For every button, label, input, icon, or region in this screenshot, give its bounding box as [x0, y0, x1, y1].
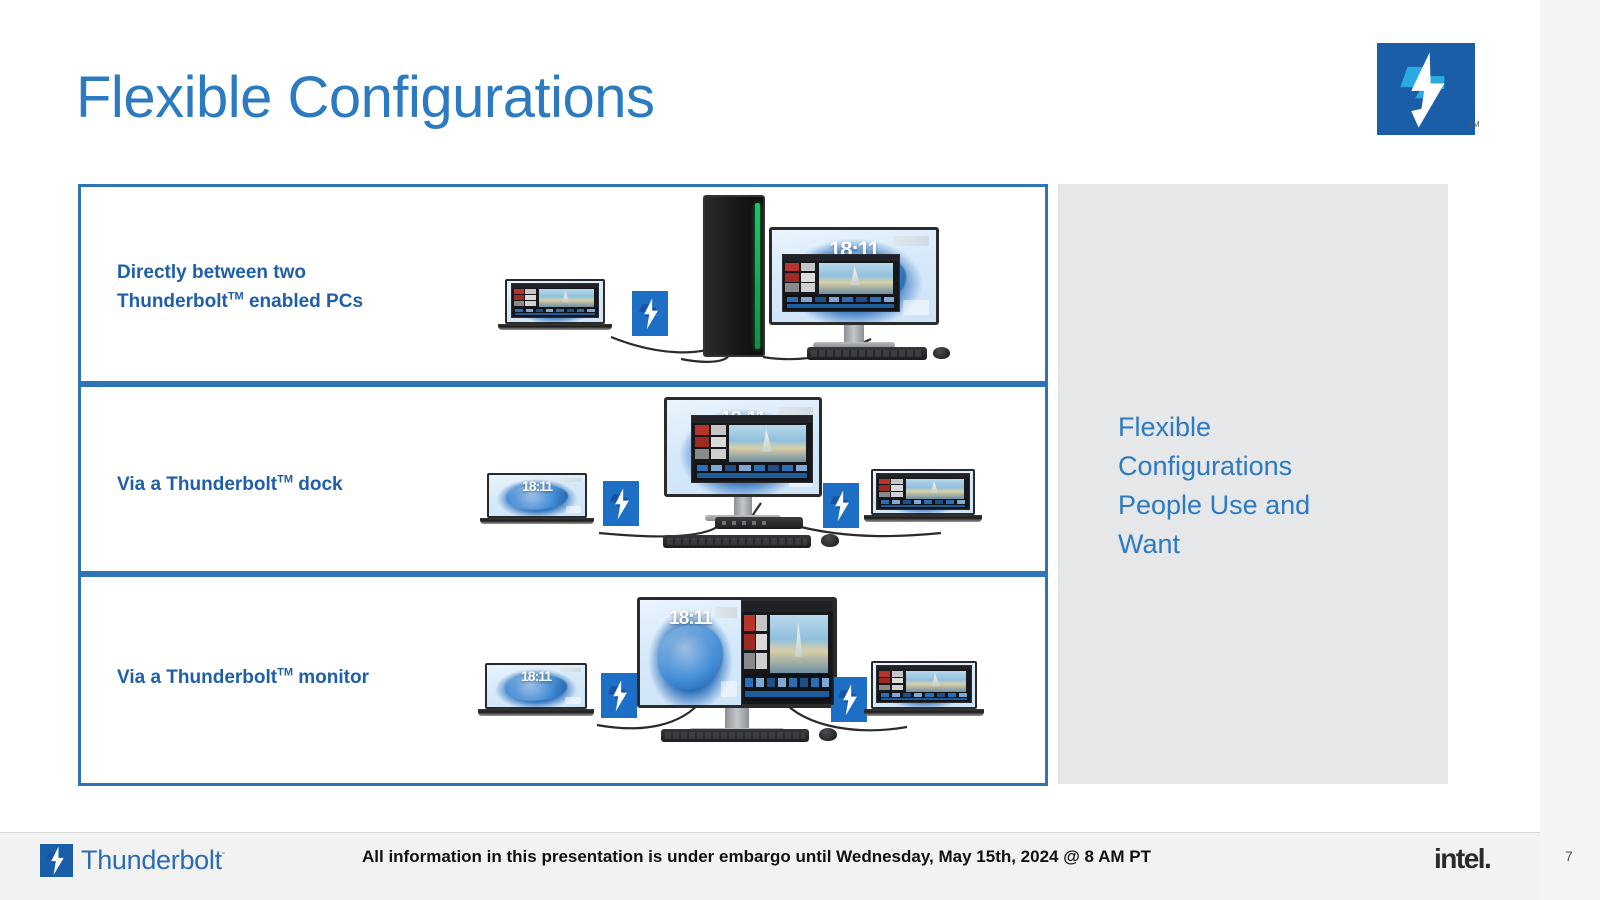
thunderbolt-badge-icon: [831, 677, 867, 722]
app-preview: [539, 289, 594, 307]
app-window: [511, 283, 599, 318]
app-thumbnails: [695, 425, 726, 459]
app-window: [876, 665, 972, 703]
thunderbolt-badge-icon: [601, 673, 637, 718]
mouse-device: [933, 347, 950, 359]
app-timeline: [744, 674, 831, 701]
laptop-base: [480, 518, 594, 525]
laptop-device: [871, 469, 975, 533]
footer-divider: [0, 832, 1540, 833]
page-number: 7: [1565, 848, 1573, 864]
laptop-device: [505, 279, 605, 341]
intel-logo: intel.: [1434, 843, 1490, 875]
timeline-track: [881, 505, 966, 507]
thunderbolt-badge-icon: [823, 483, 859, 528]
embargo-notice: All information in this presentation is …: [362, 845, 1182, 869]
monitor-screen: 18:11: [664, 397, 822, 497]
taskbar-buttons: [721, 681, 737, 698]
app-thumbnails: [744, 615, 768, 668]
callout-text: Flexible Configurations People Use and W…: [1118, 408, 1368, 565]
trademark-symbol: TM: [1468, 120, 1480, 129]
page-title: Flexible Configurations: [76, 68, 654, 129]
thunderbolt-badge-icon: [603, 481, 639, 526]
system-tray-icons: [560, 478, 581, 482]
app-thumbnails: [514, 289, 536, 306]
app-timeline: [514, 308, 597, 317]
app-titlebar: [692, 416, 812, 423]
footer-logo-word: Thunderbolt: [81, 845, 222, 875]
laptop-base: [864, 515, 983, 522]
footer-logo-wordmark: Thunderbolt˜: [81, 845, 225, 876]
laptop-screen: [505, 279, 605, 324]
taskbar-buttons: [566, 506, 581, 513]
monitor-device: 18:11: [769, 227, 939, 352]
app-timeline: [695, 463, 810, 480]
keyboard-device: [661, 729, 809, 742]
callout-panel: Flexible Configurations People Use and W…: [1058, 184, 1448, 784]
laptop-base: [864, 709, 985, 716]
system-tray-icons: [560, 668, 582, 672]
laptop-device: [871, 661, 977, 727]
monitor-stand-neck: [844, 325, 864, 343]
app-titlebar: [877, 474, 969, 478]
app-timeline: [785, 295, 896, 310]
configurations-panel: Directly between two ThunderboltTM enabl…: [78, 184, 1048, 786]
keyboard-device: [807, 347, 927, 360]
app-window: [691, 415, 813, 483]
timeline-clips: [515, 309, 595, 312]
app-titlebar: [742, 601, 833, 612]
mouse-device: [821, 534, 839, 547]
timeline-track: [515, 313, 595, 315]
slide-canvas: Flexible Configurations TM Directly betw…: [0, 0, 1540, 900]
laptop-screen: [871, 469, 975, 515]
app-preview: [729, 425, 806, 462]
monitor-screen: 18:11: [769, 227, 939, 325]
timeline-clips: [881, 693, 968, 696]
app-thumbnails: [879, 671, 903, 690]
timeline-clips: [787, 297, 894, 302]
app-thumbnails: [879, 479, 903, 497]
system-tray-icons: [893, 236, 929, 245]
config-row-dock: Via a ThunderboltTM dock 18:11: [78, 384, 1048, 574]
taskbar-buttons: [903, 300, 929, 315]
app-preview: [906, 671, 966, 691]
laptop-screen: 18:11: [485, 663, 587, 709]
monitor-stand-neck: [725, 708, 749, 728]
slide-right-margin: [1540, 0, 1600, 900]
ultrawide-monitor-device: 18:11: [637, 597, 837, 739]
timeline-clips: [697, 465, 807, 471]
laptop-device: 18:11: [485, 663, 587, 727]
monitor-left-half: 18:11: [640, 600, 741, 705]
thunderbolt-logo-icon: [1377, 43, 1475, 135]
monitor-screen: 18:11: [637, 597, 837, 708]
app-window: [741, 600, 834, 705]
app-preview: [906, 479, 965, 499]
timeline-clips: [881, 500, 966, 503]
app-window: [782, 254, 900, 313]
keyboard-device: [663, 535, 811, 548]
app-timeline: [879, 499, 967, 508]
app-preview: [819, 263, 893, 295]
row-3-illustration: 18:11: [81, 577, 1045, 783]
timeline-track: [697, 473, 807, 477]
app-preview: [770, 615, 828, 673]
mouse-device: [819, 728, 837, 741]
app-titlebar: [877, 666, 971, 670]
monitor-stand-neck: [734, 497, 753, 515]
footer-thunderbolt-logo: Thunderbolt˜: [40, 840, 240, 880]
row-2-illustration: 18:11: [81, 387, 1045, 571]
laptop-screen: [871, 661, 977, 709]
thunderbolt-dock-device: [715, 517, 803, 529]
laptop-base: [498, 324, 612, 331]
timeline-clips: [745, 678, 829, 688]
system-tray-icons: [715, 607, 737, 617]
app-titlebar: [783, 255, 899, 261]
config-row-monitor: Via a ThunderboltTM monitor 18:11: [78, 574, 1048, 786]
timeline-track: [787, 304, 894, 308]
app-window: [876, 473, 970, 510]
desktop-tower-device: [703, 195, 765, 357]
app-titlebar: [512, 284, 598, 288]
app-timeline: [879, 692, 969, 701]
thunderbolt-mark-icon: [40, 844, 73, 877]
laptop-screen: 18:11: [487, 473, 587, 518]
app-thumbnails: [785, 263, 815, 292]
laptop-device: 18:11: [487, 473, 587, 535]
laptop-base: [478, 709, 594, 716]
monitor-device: 18:11: [664, 397, 822, 525]
timeline-track: [745, 691, 829, 698]
timeline-track: [881, 698, 968, 700]
config-row-direct-pc: Directly between two ThunderboltTM enabl…: [78, 184, 1048, 384]
trademark-symbol: ˜: [222, 851, 225, 861]
thunderbolt-badge-icon: [632, 291, 668, 336]
row-1-illustration: 18:11: [81, 187, 1045, 381]
taskbar-buttons: [565, 697, 581, 704]
